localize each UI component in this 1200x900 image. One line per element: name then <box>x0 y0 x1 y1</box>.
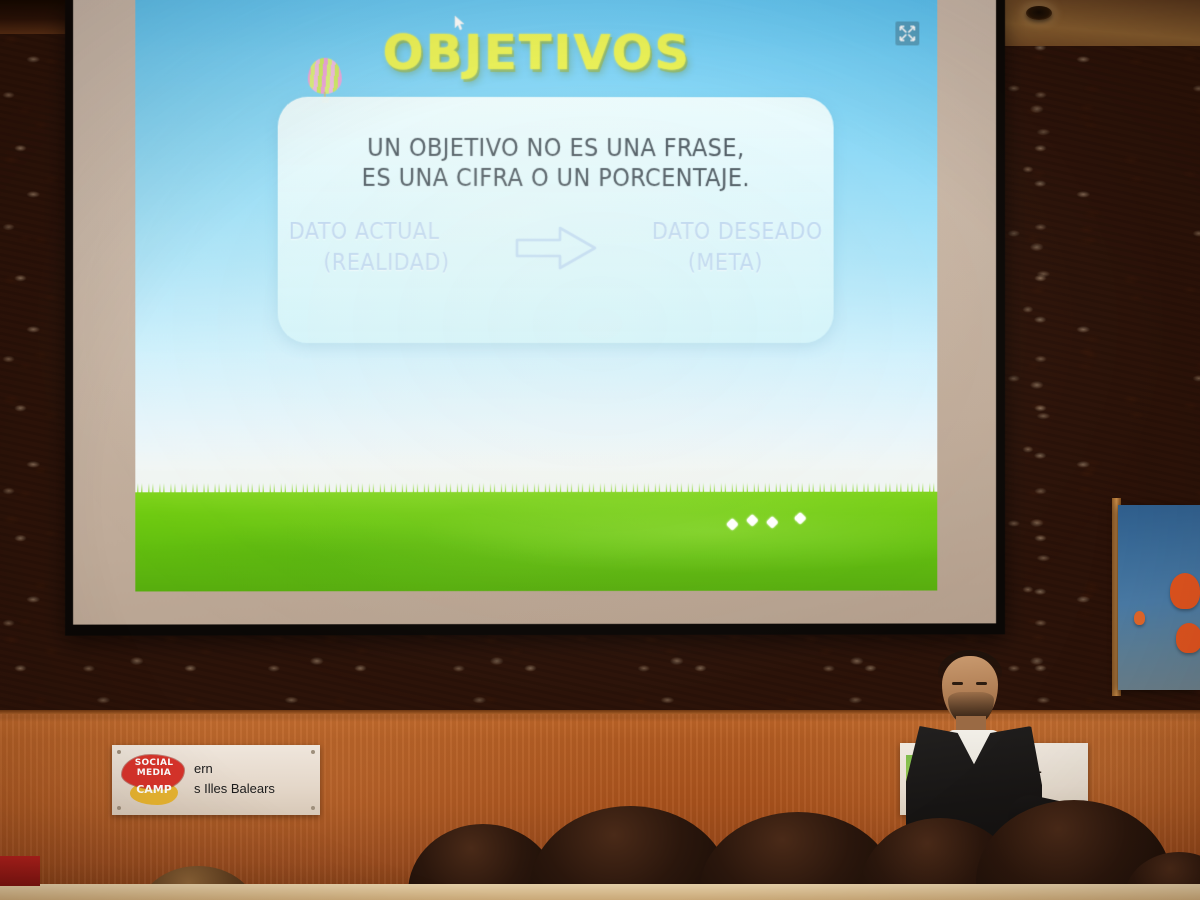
slide-grass <box>135 492 937 592</box>
desired-data-label: DATO DESEADO (META) <box>628 217 823 279</box>
card-headline-line2: ES UNA CIFRA O UN PORCENTAJE. <box>278 162 834 192</box>
logo-line3: CAMP <box>130 783 178 796</box>
current-data-line1: DATO ACTUAL <box>289 217 484 248</box>
current-data-line2: (REALIDAD) <box>289 248 484 279</box>
projection-screen: OBJETIVOS UN OBJETIVO NO ES UNA FRASE, E… <box>65 0 1005 636</box>
card-headline: UN OBJETIVO NO ES UNA FRASE, ES UNA CIFR… <box>278 133 834 192</box>
sign-left-text: ern s Illes Balears <box>194 759 319 799</box>
hot-air-balloon-icon <box>308 58 342 100</box>
projected-slide: OBJETIVOS UN OBJETIVO NO ES UNA FRASE, E… <box>135 0 937 591</box>
logo-line2: MEDIA <box>128 768 180 778</box>
flower-icon <box>726 518 739 531</box>
social-media-camp-logo: SOCIAL MEDIA CAMP <box>122 755 184 805</box>
flower-icon <box>794 512 807 525</box>
presenter-eye <box>976 682 987 685</box>
desired-data-line2: (META) <box>628 248 823 279</box>
right-arrow-icon <box>510 223 602 273</box>
screen-surface: OBJETIVOS UN OBJETIVO NO ES UNA FRASE, E… <box>73 0 996 625</box>
logo-line1: SOCIAL <box>128 758 180 768</box>
card-comparison: DATO ACTUAL (REALIDAD) DATO DESEADO (MET… <box>278 217 834 279</box>
sign-social-media-camp: SOCIAL MEDIA CAMP ern s Illes Balears <box>112 745 320 815</box>
current-data-label: DATO ACTUAL (REALIDAD) <box>289 217 484 279</box>
red-object <box>0 856 40 886</box>
table-edge <box>0 884 1200 900</box>
presenter-eye <box>952 682 963 685</box>
desired-data-line1: DATO DESEADO <box>628 217 823 248</box>
photo-scene: OBJETIVOS UN OBJETIVO NO ES UNA FRASE, E… <box>0 0 1200 900</box>
wall-poster-balloons <box>1118 505 1200 690</box>
mouse-cursor-icon <box>454 15 466 31</box>
slide-title: OBJETIVOS <box>135 24 937 81</box>
flower-icon <box>746 514 759 527</box>
ceiling-spotlight-icon <box>1026 6 1052 20</box>
sign-left-line1: ern <box>194 759 319 779</box>
card-headline-line1: UN OBJETIVO NO ES UNA FRASE, <box>278 133 834 163</box>
flower-icon <box>766 516 779 529</box>
sign-left-line2: s Illes Balears <box>194 779 319 799</box>
fullscreen-icon[interactable] <box>895 21 919 45</box>
slide-content-card: UN OBJETIVO NO ES UNA FRASE, ES UNA CIFR… <box>278 97 834 343</box>
